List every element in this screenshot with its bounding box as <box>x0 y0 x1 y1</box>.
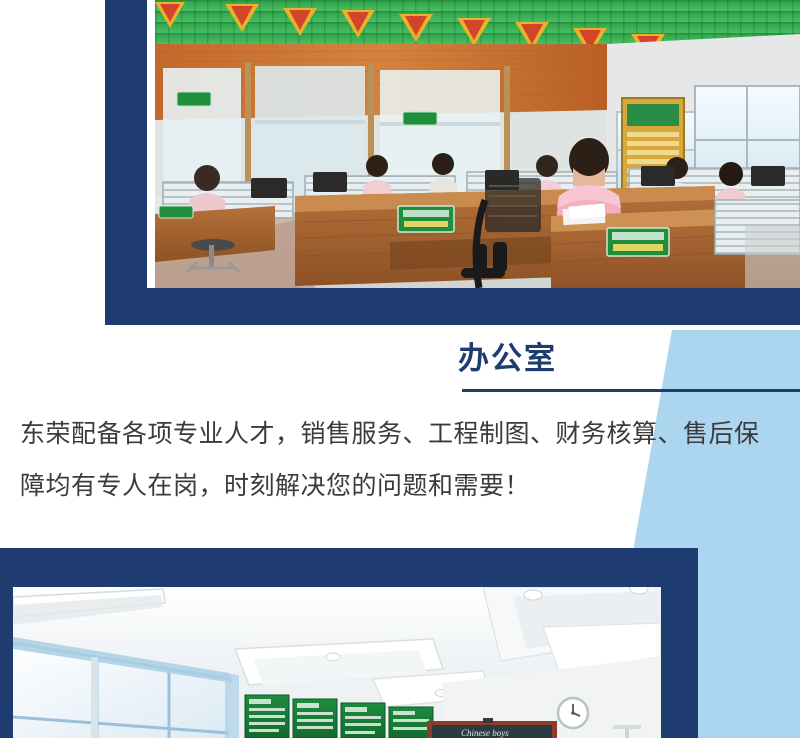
meeting-room-photo: Chinese boys <box>13 587 661 738</box>
office-open-plan-photo <box>155 0 800 288</box>
title-underline <box>462 389 800 392</box>
section-description: 东荣配备各项专业人才，销售服务、工程制图、财务核算、售后保 障均有专人在岗，时刻… <box>20 408 788 512</box>
page-title: 办公室 <box>458 340 557 379</box>
description-line-1: 东荣配备各项专业人才，销售服务、工程制图、财务核算、售后保 <box>20 408 788 460</box>
page-root: 办公室 东荣配备各项专业人才，销售服务、工程制图、财务核算、售后保 障均有专人在… <box>0 0 800 738</box>
description-line-2: 障均有专人在岗，时刻解决您的问题和需要！ <box>20 460 788 512</box>
svg-text:Chinese boys: Chinese boys <box>461 728 509 738</box>
